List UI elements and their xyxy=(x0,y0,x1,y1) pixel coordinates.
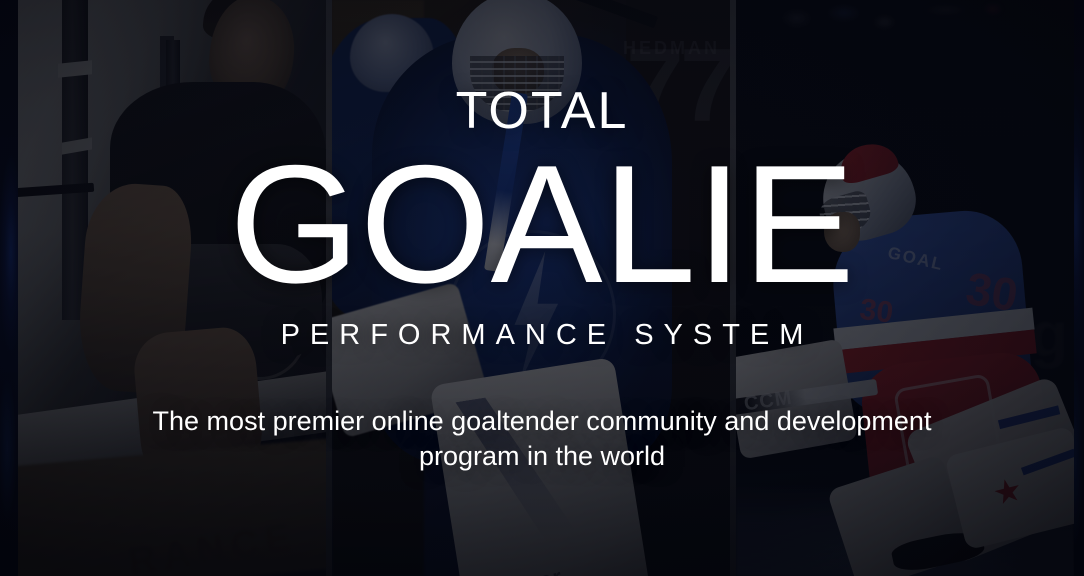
hero-tagline: The most premier online goaltender commu… xyxy=(102,404,982,475)
hero-banner: RANCE 77 HEDMAN xyxy=(0,0,1084,576)
hero-wordmark: GOALIE xyxy=(229,151,855,299)
hero-subtitle: PERFORMANCE SYSTEM xyxy=(271,321,814,350)
hero-text-block: TOTAL GOALIE PERFORMANCE SYSTEM The most… xyxy=(0,0,1084,576)
